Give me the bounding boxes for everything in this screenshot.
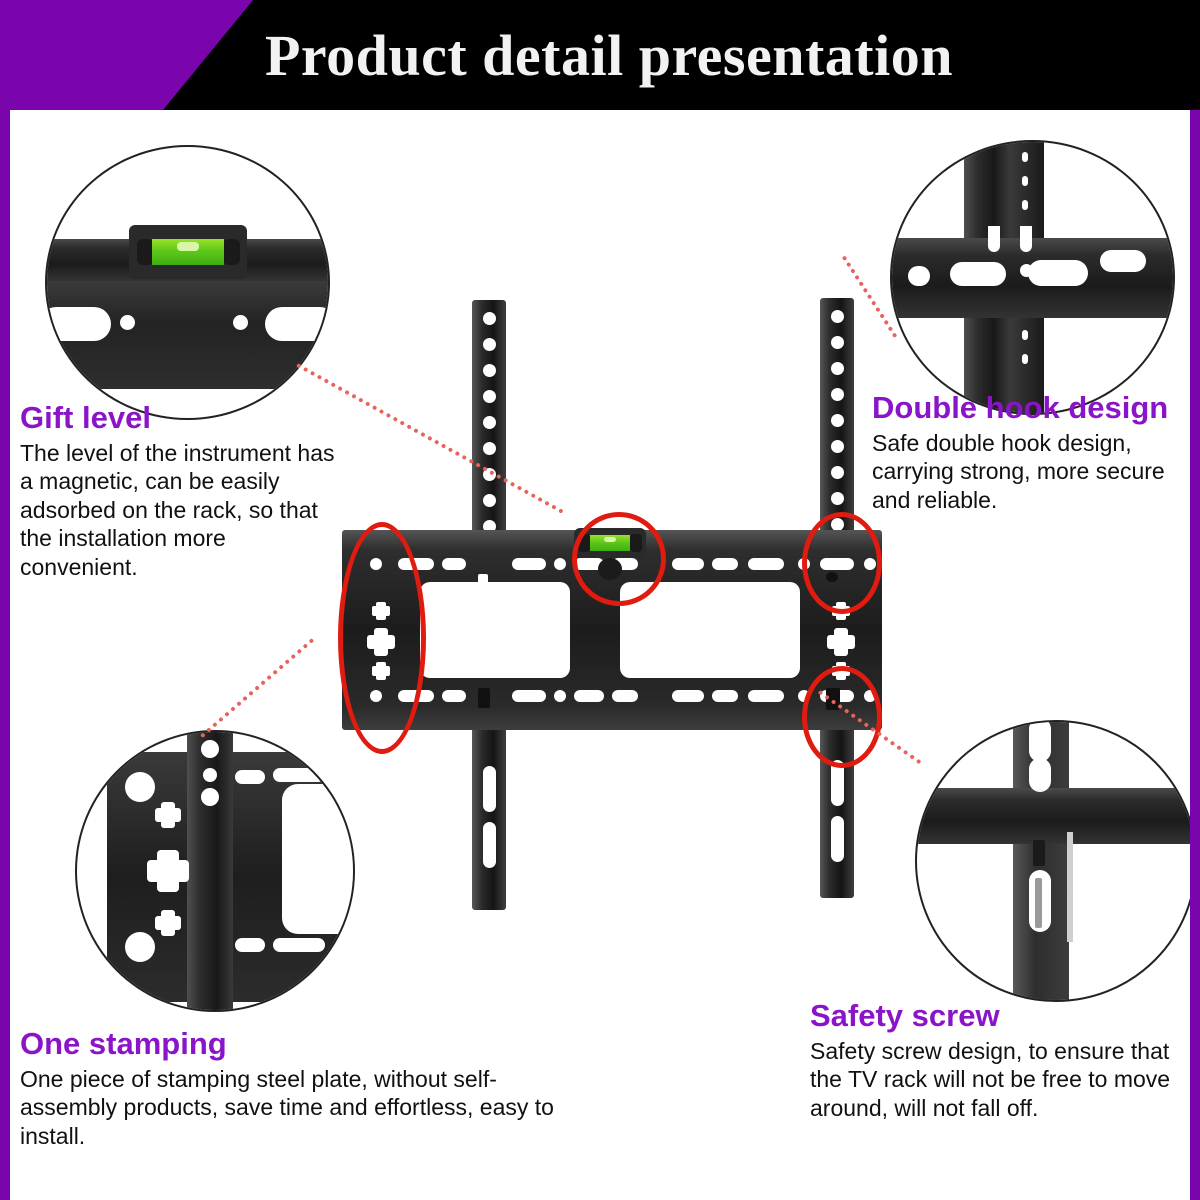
stamped-plate-photo xyxy=(77,732,353,1010)
callout-safety-screw xyxy=(915,720,1190,1002)
annotation-ellipse-hook xyxy=(802,512,882,614)
feature-block-double-hook: Double hook design Safe double hook desi… xyxy=(872,392,1190,514)
callout-gift-level xyxy=(45,145,330,420)
feature-heading-gift-level: Gift level xyxy=(20,402,340,435)
safety-screw-photo xyxy=(917,722,1190,1000)
leader-line-one-stamping xyxy=(200,638,314,738)
page-title: Product detail presentation xyxy=(0,0,1200,110)
feature-body-gift-level: The level of the instrument has a magnet… xyxy=(20,439,340,582)
feature-body-double-hook: Safe double hook design, carrying strong… xyxy=(872,429,1190,515)
feature-block-one-stamping: One stamping One piece of stamping steel… xyxy=(20,1028,580,1150)
feature-heading-one-stamping: One stamping xyxy=(20,1028,580,1061)
double-hook-photo xyxy=(892,142,1173,413)
feature-heading-double-hook: Double hook design xyxy=(872,392,1190,425)
feature-block-gift-level: Gift level The level of the instrument h… xyxy=(20,402,340,581)
feature-body-one-stamping: One piece of stamping steel plate, witho… xyxy=(20,1065,580,1151)
header-banner: Product detail presentation xyxy=(0,0,1200,110)
annotation-ellipse-level xyxy=(572,512,666,606)
callout-double-hook xyxy=(890,140,1175,415)
callout-one-stamping xyxy=(75,730,355,1012)
feature-heading-safety-screw: Safety screw xyxy=(810,1000,1180,1033)
annotation-ellipse-stamping xyxy=(338,522,426,754)
content-canvas: Gift level The level of the instrument h… xyxy=(10,110,1190,1200)
feature-body-safety-screw: Safety screw design, to ensure that the … xyxy=(810,1037,1180,1123)
tv-wall-mount-product-image xyxy=(320,290,900,930)
feature-block-safety-screw: Safety screw Safety screw design, to ens… xyxy=(810,1000,1180,1122)
annotation-ellipse-screw xyxy=(802,666,882,768)
bubble-level-photo xyxy=(47,147,328,418)
